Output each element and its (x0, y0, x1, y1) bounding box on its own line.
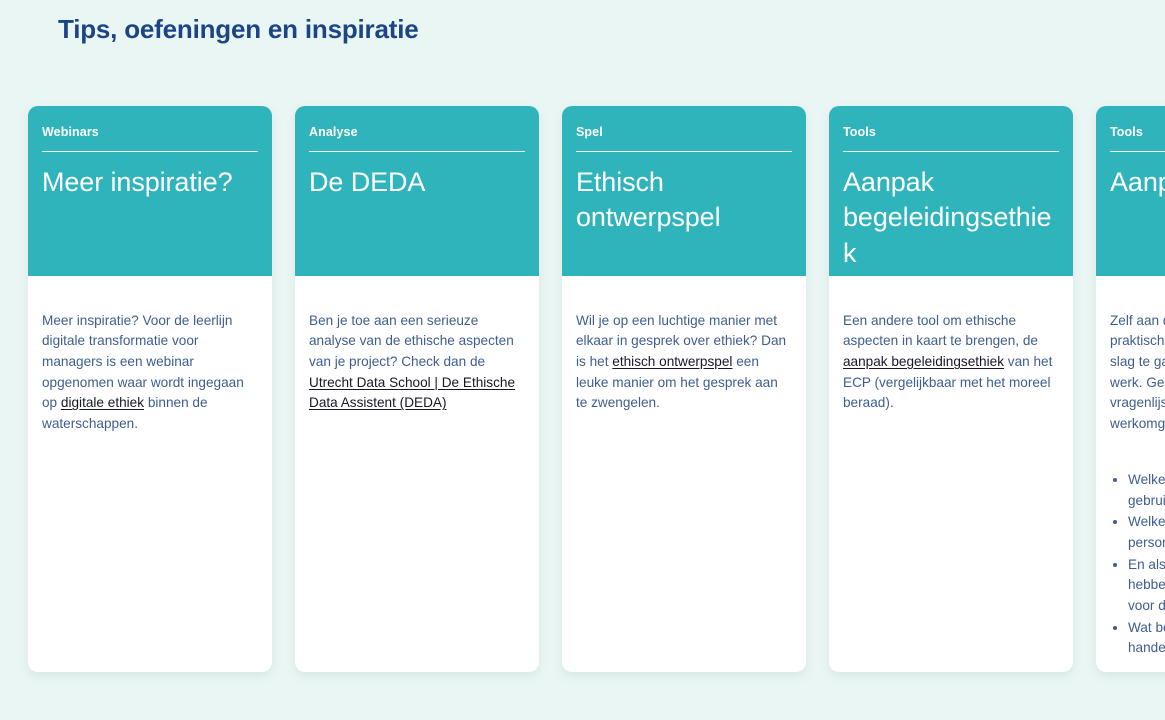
card-body: Ben je toe aan een serieuze analyse van … (295, 276, 539, 672)
card-body: Zelf aan de slag? Hier vind je praktisch… (1096, 276, 1165, 672)
card-body: Meer inspiratie? Voor de leerlijn digita… (28, 276, 272, 672)
card-title: Meer inspiratie? (42, 165, 258, 201)
card-header: Tools Aanpak begeleidingsethiek (829, 106, 1073, 276)
list-item: Welke persoonsgegevens gebruik je hier v… (1128, 470, 1165, 511)
card-title: Aanpak (1110, 165, 1165, 201)
card-tools-begeleidingsethiek[interactable]: Tools Aanpak begeleidingsethiek Een ande… (829, 106, 1073, 672)
card-analyse[interactable]: Analyse De DEDA Ben je toe aan een serie… (295, 106, 539, 672)
page-title: Tips, oefeningen en inspiratie (58, 14, 418, 45)
card-tools-zelf-aan-de-slag[interactable]: Tools Aanpak Zelf aan de slag? Hier vind… (1096, 106, 1165, 672)
card-title: Aanpak begeleidingsethiek (843, 165, 1059, 272)
card-eyebrow: Tools (1110, 126, 1165, 140)
cards-carousel[interactable]: Webinars Meer inspiratie? Meer inspirati… (28, 106, 1165, 672)
header-divider (309, 151, 525, 152)
text-before: Een andere tool om ethische aspecten in … (843, 313, 1038, 349)
card-body: Een andere tool om ethische aspecten in … (829, 276, 1073, 672)
card-header: Webinars Meer inspiratie? (28, 106, 272, 276)
list-item: En als we deze data niet zouden hebben, … (1128, 555, 1165, 617)
inline-link[interactable]: digitale ethiek (61, 395, 144, 410)
card-header: Spel Ethisch ontwerpspel (562, 106, 806, 276)
list-item: Welke waarden van deze personen staan op… (1128, 512, 1165, 553)
card-eyebrow: Spel (576, 126, 792, 140)
card-eyebrow: Webinars (42, 126, 258, 140)
inline-link[interactable]: aanpak begeleidingsethiek (843, 354, 1004, 369)
card-description: Zelf aan de slag? Hier vind je praktisch… (1110, 311, 1165, 435)
card-eyebrow: Tools (843, 126, 1059, 140)
list-item: Wat betekent dit voor het handelen van d… (1128, 618, 1165, 659)
text-before: Ben je toe aan een serieuze analyse van … (309, 313, 514, 369)
header-divider (42, 151, 258, 152)
header-divider (576, 151, 792, 152)
card-description: Ben je toe aan een serieuze analyse van … (309, 311, 525, 414)
card-header: Analyse De DEDA (295, 106, 539, 276)
tips-inspiration-page: Tips, oefeningen en inspiratie Webinars … (0, 0, 1165, 720)
card-description: Wil je op een luchtige manier met elkaar… (576, 311, 792, 414)
header-divider (843, 151, 1059, 152)
card-eyebrow: Analyse (309, 126, 525, 140)
header-divider (1110, 151, 1165, 152)
inline-link[interactable]: Utrecht Data School | De Ethische Data A… (309, 375, 515, 411)
card-header: Tools Aanpak (1096, 106, 1165, 276)
card-body: Wil je op een luchtige manier met elkaar… (562, 276, 806, 672)
inline-link[interactable]: ethisch ontwerpspel (612, 354, 732, 369)
card-title: Ethisch ontwerpspel (576, 165, 792, 236)
card-title: De DEDA (309, 165, 525, 201)
card-spel[interactable]: Spel Ethisch ontwerpspel Wil je op een l… (562, 106, 806, 672)
card-description: Meer inspiratie? Voor de leerlijn digita… (42, 311, 258, 435)
card-description: Een andere tool om ethische aspecten in … (843, 311, 1059, 414)
card-webinars[interactable]: Webinars Meer inspiratie? Meer inspirati… (28, 106, 272, 672)
card-bullet-list: Welke persoonsgegevens gebruik je hier v… (1110, 470, 1165, 660)
